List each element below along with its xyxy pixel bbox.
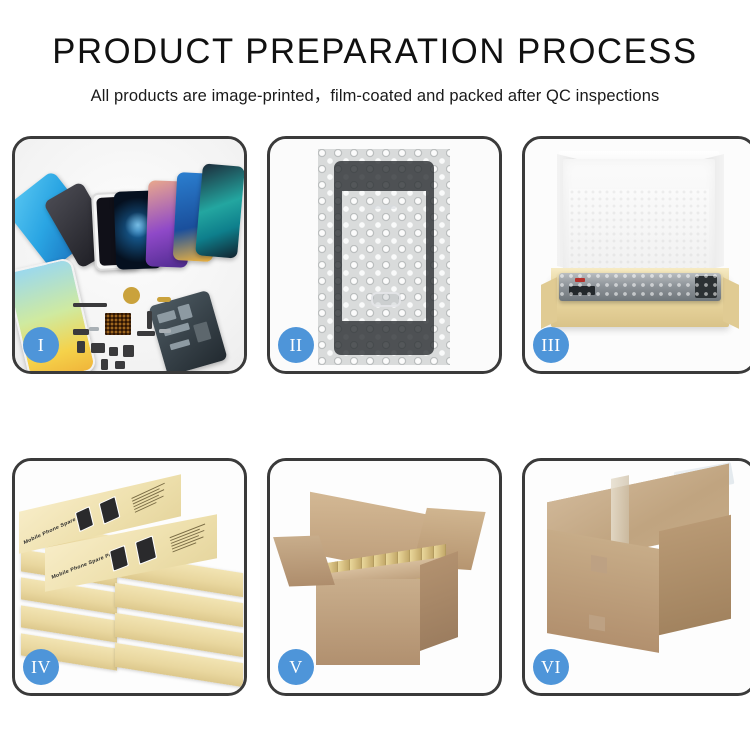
carton-handle-cut [589,615,605,632]
home-button [371,292,401,307]
step-1-image: I [15,139,244,371]
screen-red-marking [575,278,585,282]
box-label-screen-image [135,535,157,565]
earpiece-slot [372,205,396,209]
bubble-wrapped-screen-photo [318,149,450,365]
box-label-screen-image [109,545,129,572]
screen-black-marking [569,286,595,295]
step-2-image: II [270,139,499,371]
header: PRODUCT PREPARATION PROCESS All products… [0,0,750,106]
box-label-screen-image [75,506,94,532]
wrapped-screen-in-box [559,273,721,301]
carton-side-panel [420,551,458,651]
carton-handle-cut [591,555,607,574]
kraft-flap-left [541,277,557,329]
box-label-screen-image [99,496,121,525]
screen-dark-end [695,276,717,298]
step-5-image: V [270,461,499,693]
carton-front-panel [316,579,420,665]
carton-side-panel [659,515,731,636]
step-4-image: Mobile Phone Spare Parts Mobile Phone Sp… [15,461,244,693]
step-badge-2: II [278,327,314,363]
product-preparation-process-infographic: PRODUCT PREPARATION PROCESS All products… [0,0,750,750]
process-step-panel-4: Mobile Phone Spare Parts Mobile Phone Sp… [12,458,247,696]
box-label-spec-lines [170,523,211,555]
process-step-panel-6: VI [522,458,750,696]
connector-grid [105,313,131,335]
step-badge-6: VI [533,649,569,685]
step-badge-1: I [23,327,59,363]
step-6-image: VI [525,461,750,693]
teal-wave-phone [195,163,244,258]
process-step-panel-2: II [267,136,502,374]
phone-glass-frame [334,161,434,355]
step-badge-4: IV [23,649,59,685]
step-badge-3: III [533,327,569,363]
process-step-panel-5: V [267,458,502,696]
process-step-panel-1: I [12,136,247,374]
page-title: PRODUCT PREPARATION PROCESS [4,34,747,69]
box-label-spec-lines [131,482,170,515]
process-step-panel-3: III [522,136,750,374]
small-spare-parts-group [71,285,191,371]
carton-front-panel [547,529,659,653]
step-badge-5: V [278,649,314,685]
kraft-flap-right [723,277,739,329]
page-subtitle: All products are image-printed，film-coat… [0,82,750,106]
process-step-grid: I II [12,136,738,694]
step-3-image: III [525,139,750,371]
